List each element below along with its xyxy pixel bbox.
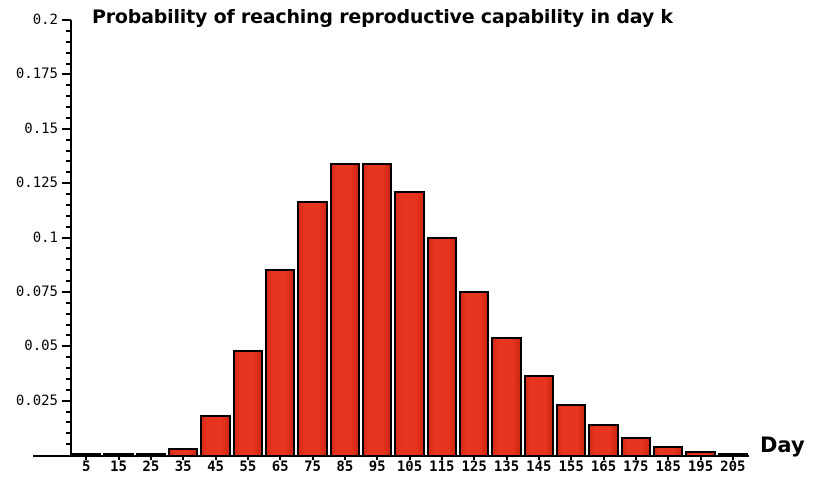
bar-fill (429, 239, 455, 455)
x-axis-label-text: 125 (462, 459, 487, 475)
x-axis-label-text: 5 (82, 459, 90, 475)
bar-fill (364, 165, 390, 455)
y-axis-label: 0.125 (0, 175, 58, 191)
bar-fill (526, 377, 552, 455)
bar (459, 291, 489, 457)
x-axis-label-text: 75 (304, 459, 321, 475)
y-axis-label: 0.025 (0, 393, 58, 409)
x-axis-label-text: 15 (110, 459, 127, 475)
bar (491, 337, 521, 457)
bar-fill (332, 165, 358, 455)
bar (362, 163, 392, 457)
y-axis-label: 0.2 (0, 12, 58, 28)
x-axis-label-text: 25 (142, 459, 159, 475)
y-axis-label-text: 0.025 (16, 393, 58, 409)
bar-fill (202, 417, 228, 455)
bar (621, 437, 651, 457)
plot-area (70, 20, 749, 457)
bar-fill (299, 203, 325, 455)
x-axis-label-text: 145 (526, 459, 551, 475)
y-axis-label: 0.1 (0, 230, 58, 246)
bar (588, 424, 618, 457)
y-axis-label-text: 0.175 (16, 66, 58, 82)
bar-fill (267, 271, 293, 455)
y-axis-label-text: 0.1 (33, 230, 58, 246)
x-axis-label-text: 195 (688, 459, 713, 475)
x-axis-label-text: 155 (559, 459, 584, 475)
y-axis-label-text: 0.075 (16, 284, 58, 300)
bar-fill (655, 448, 681, 455)
x-axis-label-text: 45 (207, 459, 224, 475)
chart-container: Probability of reaching reproductive cap… (0, 0, 826, 491)
x-axis-label-text: 135 (494, 459, 519, 475)
x-axis-label-text: 55 (239, 459, 256, 475)
y-axis-label-text: 0.125 (16, 175, 58, 191)
x-axis-label-text: 65 (272, 459, 289, 475)
y-axis-label-text: 0.15 (24, 121, 58, 137)
bar (394, 191, 424, 457)
x-axis-label-text: 185 (656, 459, 681, 475)
bar (524, 375, 554, 457)
bar-fill (461, 293, 487, 455)
x-axis-label-text: 35 (175, 459, 192, 475)
y-axis-label: 0.175 (0, 66, 58, 82)
bar (297, 201, 327, 457)
y-axis-label-text: 0.05 (24, 338, 58, 354)
bar (265, 269, 295, 457)
x-axis-label-text: 85 (336, 459, 353, 475)
bar-fill (590, 426, 616, 455)
bar (427, 237, 457, 457)
y-axis-label: 0.05 (0, 338, 58, 354)
y-axis-label: 0.15 (0, 121, 58, 137)
x-axis-label-text: 95 (369, 459, 386, 475)
bar (330, 163, 360, 457)
bar-fill (493, 339, 519, 455)
bar-fill (235, 352, 261, 455)
bar-fill (623, 439, 649, 455)
x-axis-label-text: 115 (429, 459, 454, 475)
bar (556, 404, 586, 457)
bar-fill (396, 193, 422, 455)
x-axis-label-text: 205 (720, 459, 745, 475)
x-axis-label-text: 105 (397, 459, 422, 475)
x-axis-label-text: 175 (623, 459, 648, 475)
bar-fill (558, 406, 584, 455)
x-axis-title: Day (760, 433, 805, 457)
bar (200, 415, 230, 457)
y-axis-label: 0.075 (0, 284, 58, 300)
bar (233, 350, 263, 457)
y-axis-label-text: 0.2 (33, 12, 58, 28)
x-axis-label-text: 165 (591, 459, 616, 475)
